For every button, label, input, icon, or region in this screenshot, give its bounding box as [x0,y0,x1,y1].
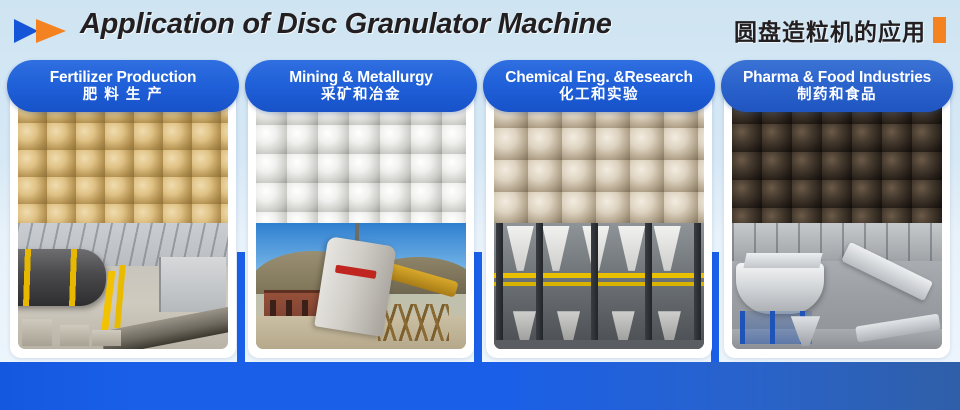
banner: Application of Disc Granulator Machine 圆… [0,0,960,410]
banner-header: Application of Disc Granulator Machine 圆… [0,0,960,62]
card-title-en: Mining & Metallurgy [289,69,432,86]
card-title-zh: 化工和实验 [559,86,639,104]
card-title-pill: Pharma & Food Industries 制药和食品 [721,60,953,112]
card-title-zh: 肥 料 生 产 [83,86,164,104]
double-triangle-arrow-icon [14,17,70,45]
clay-catalyst-pellets-photo [494,96,704,223]
application-card-fertilizer-production[interactable]: Fertilizer Production 肥 料 生 产 [10,66,236,358]
card-title-en: Chemical Eng. &Research [505,69,693,86]
card-title-pill: Chemical Eng. &Research 化工和实验 [483,60,715,112]
tan-fertilizer-granules-photo [18,96,228,223]
card-title-zh: 制药和食品 [797,86,877,104]
card-media [256,96,466,349]
card-title-pill: Mining & Metallurgy 采矿和冶金 [245,60,477,112]
silo-hopper-chemical-plant-photo [494,223,704,349]
dark-coated-pellets-photo [732,96,942,223]
card-media [18,96,228,349]
orange-accent-square-icon [933,17,946,43]
page-title: Application of Disc Granulator Machine [80,8,612,41]
card-title-en: Pharma & Food Industries [743,69,931,86]
card-title-pill: Fertilizer Production 肥 料 生 产 [7,60,239,112]
application-card-mining-metallurgy[interactable]: Mining & Metallurgy 采矿和冶金 [248,66,474,358]
card-title-en: Fertilizer Production [50,69,197,86]
white-mineral-pellets-photo [256,96,466,223]
stainless-mixer-conveyor-line-photo [732,223,942,349]
card-media [732,96,942,349]
footer-bar [0,362,960,410]
application-card-row: Fertilizer Production 肥 料 生 产 [0,66,960,366]
outdoor-quarry-crusher-site-photo [256,223,466,349]
page-title-chinese-wrap: 圆盘造粒机的应用 [734,13,946,47]
rotary-drum-fertilizer-plant-photo [18,223,228,349]
page-title-chinese: 圆盘造粒机的应用 [734,13,926,47]
application-card-chemical-engineering-research[interactable]: Chemical Eng. &Research 化工和实验 [486,66,712,358]
application-card-pharma-food-industries[interactable]: Pharma & Food Industries 制药和食品 [724,66,950,358]
card-media [494,96,704,349]
card-title-zh: 采矿和冶金 [321,86,401,104]
